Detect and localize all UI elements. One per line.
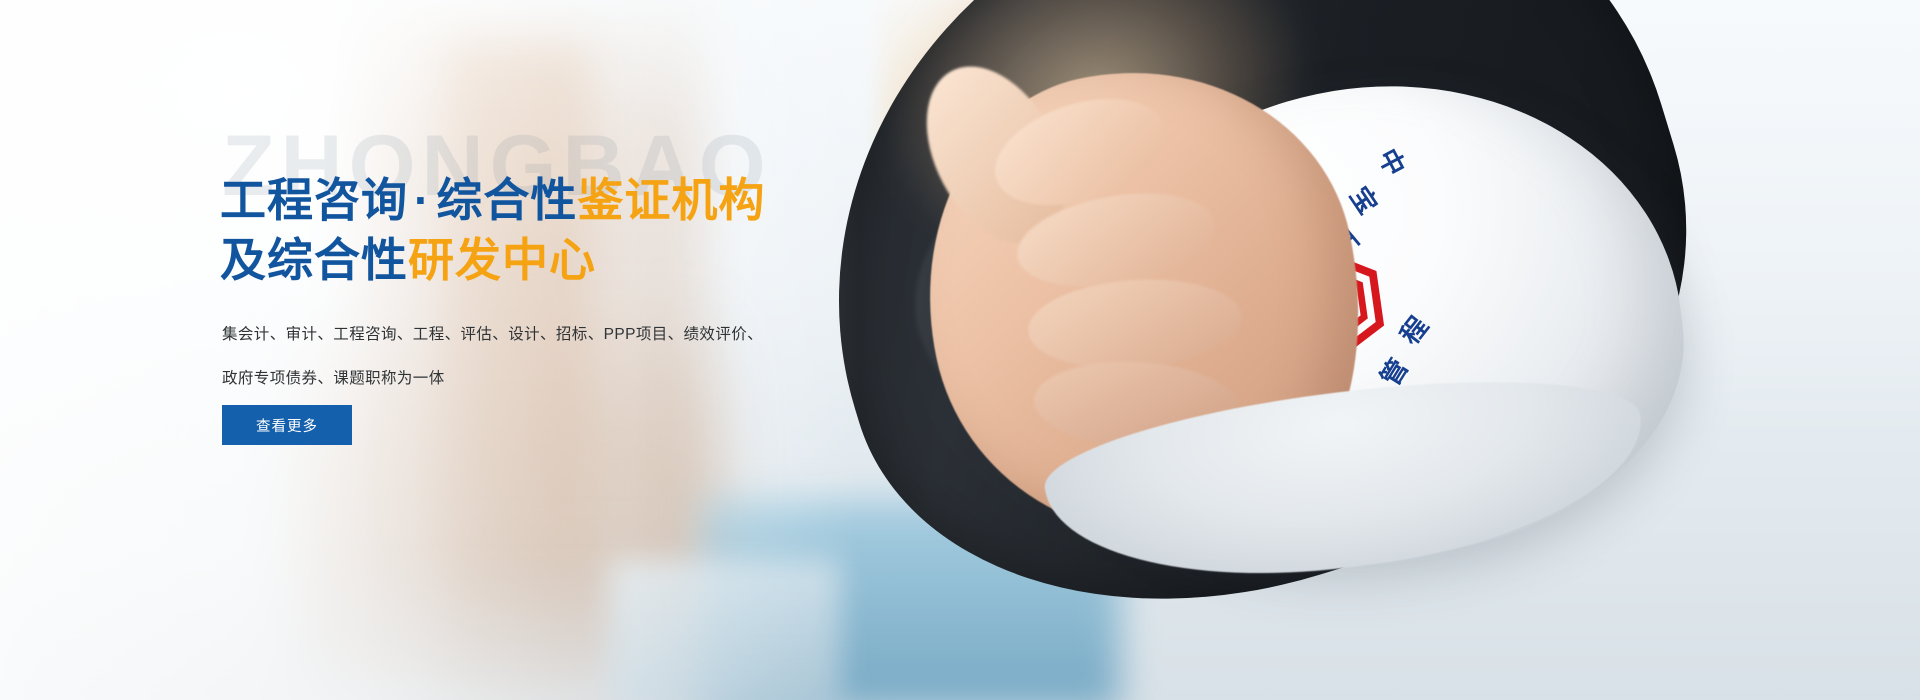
title-line2-part1: 及综合性 [220, 234, 408, 286]
helmet-char-4: 程 [1390, 308, 1435, 351]
hero-banner: 中 宝 工 程 管 理 ZHONGBAO 工程咨询·综合性鉴证机构 及 [0, 0, 1920, 700]
subtitle: 集会计、审计、工程咨询、工程、评估、设计、招标、PPP项目、绩效评价、 政府专项… [222, 313, 832, 401]
view-more-button[interactable]: 查看更多 [222, 405, 352, 445]
hero-content: ZHONGBAO 工程咨询·综合性鉴证机构 及综合性研发中心 集会计、审计、工程… [220, 0, 1020, 700]
title-separator: · [408, 174, 436, 226]
subtitle-line-2: 政府专项债券、课题职称为一体 [222, 357, 832, 401]
title-line1-part1: 工程咨询 [220, 174, 408, 226]
title-line1-part2: 综合性 [436, 174, 577, 226]
subtitle-line-1: 集会计、审计、工程咨询、工程、评估、设计、招标、PPP项目、绩效评价、 [222, 313, 832, 357]
helmet-char-1: 中 [1371, 141, 1416, 181]
helmet-char-2: 宝 [1342, 178, 1387, 220]
title-line2-highlight: 研发中心 [408, 234, 596, 286]
page-title: 工程咨询·综合性鉴证机构 及综合性研发中心 [220, 170, 765, 290]
title-line1-highlight: 鉴证机构 [577, 174, 765, 226]
